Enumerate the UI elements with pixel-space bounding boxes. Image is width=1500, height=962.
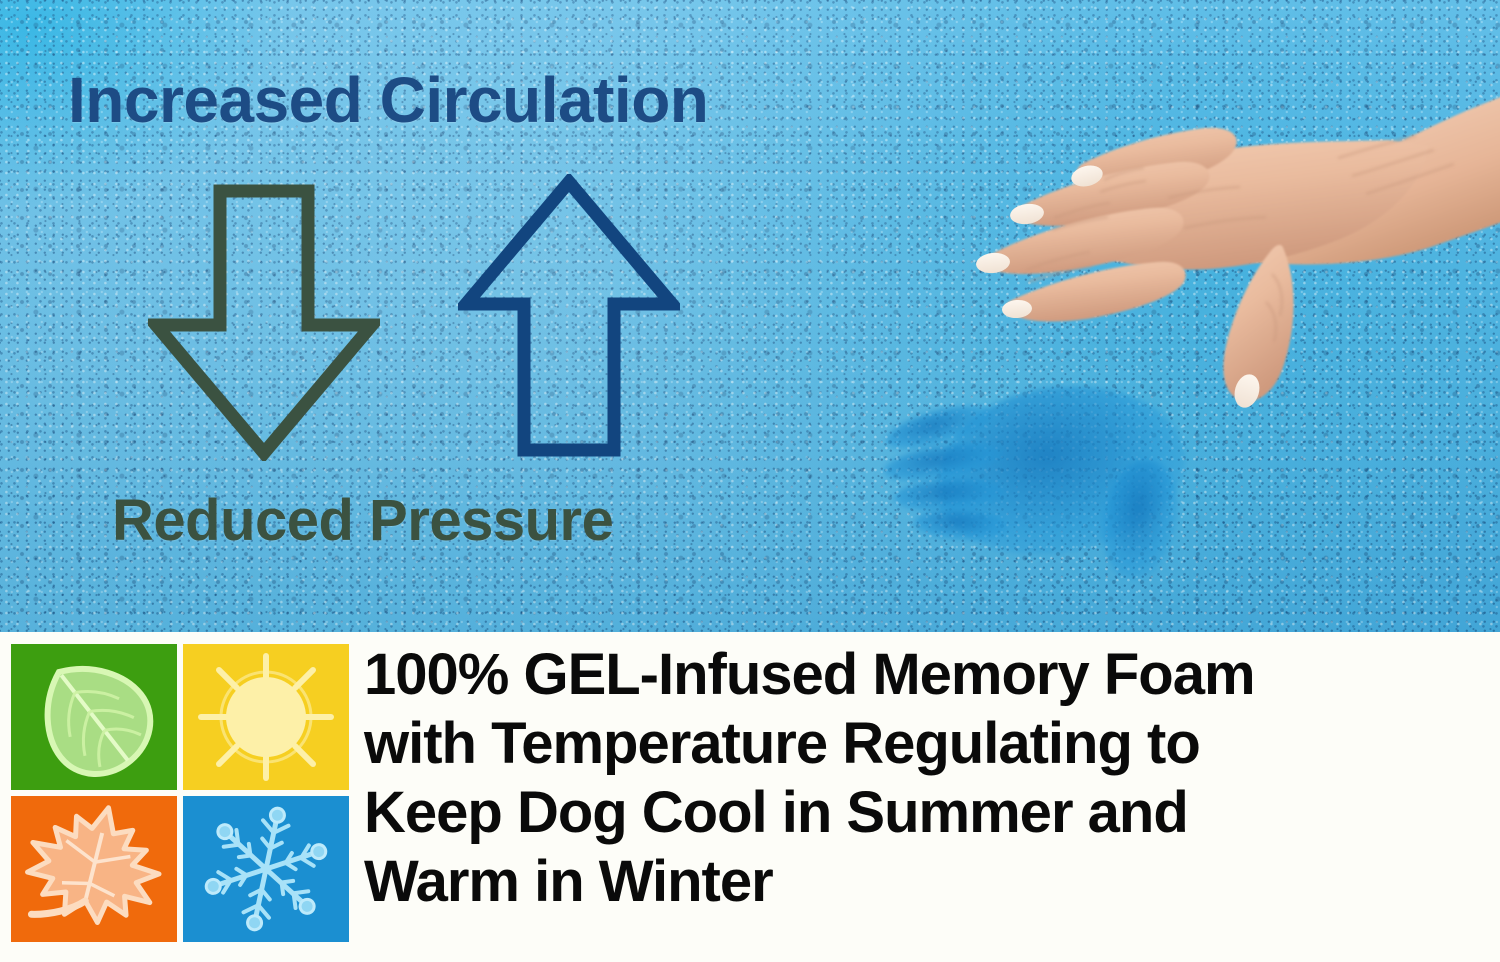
nail-pinky — [1001, 299, 1032, 319]
sun-icon — [183, 644, 349, 790]
handprint-thumb — [1094, 454, 1186, 585]
maple-leaf-icon — [11, 796, 177, 942]
finger-pinky — [1006, 262, 1186, 322]
feature-headline: 100% GEL-Infused Memory Foam with Temper… — [364, 640, 1484, 916]
reduced-pressure-label: Reduced Pressure — [112, 487, 613, 554]
handprint-palm — [926, 370, 1197, 568]
handprint-finger-ring — [893, 476, 1007, 515]
forearm-shape — [1218, 94, 1500, 264]
headline-line-1: 100% GEL-Infused Memory Foam — [364, 640, 1484, 709]
memory-foam-photo: Increased Circulation Reduced Pressure — [0, 0, 1500, 632]
headline-line-4: Warm in Winter — [364, 847, 1484, 916]
finger-index — [1076, 128, 1237, 190]
nail-middle — [1009, 202, 1045, 227]
handprint-finger-pinky — [913, 507, 1009, 543]
nail-index — [1069, 162, 1105, 189]
nail-thumb — [1231, 371, 1263, 410]
handprint-finger-middle — [881, 436, 1005, 488]
leaf-icon — [11, 644, 177, 790]
feature-info-panel: 100% GEL-Infused Memory Foam with Temper… — [0, 632, 1500, 962]
handprint-finger-index — [882, 397, 997, 458]
skin-creases — [1026, 136, 1454, 342]
hand-pressing-foam — [868, 88, 1500, 418]
four-seasons-icon-grid — [11, 644, 349, 949]
up-arrow-icon — [458, 174, 680, 463]
finger-middle — [1013, 162, 1209, 226]
snowflake-icon — [183, 796, 349, 942]
finger-ring — [981, 208, 1183, 274]
handprint-impression — [864, 304, 1286, 616]
headline-line-3: Keep Dog Cool in Summer and — [364, 778, 1484, 847]
down-arrow-icon — [148, 183, 380, 466]
nail-ring — [975, 251, 1011, 274]
thumb — [1223, 245, 1293, 401]
increased-circulation-label: Increased Circulation — [68, 63, 708, 137]
headline-line-2: with Temperature Regulating to — [364, 709, 1484, 778]
hand-back-shape — [1064, 140, 1428, 270]
product-feature-graphic: Increased Circulation Reduced Pressure — [0, 0, 1500, 962]
